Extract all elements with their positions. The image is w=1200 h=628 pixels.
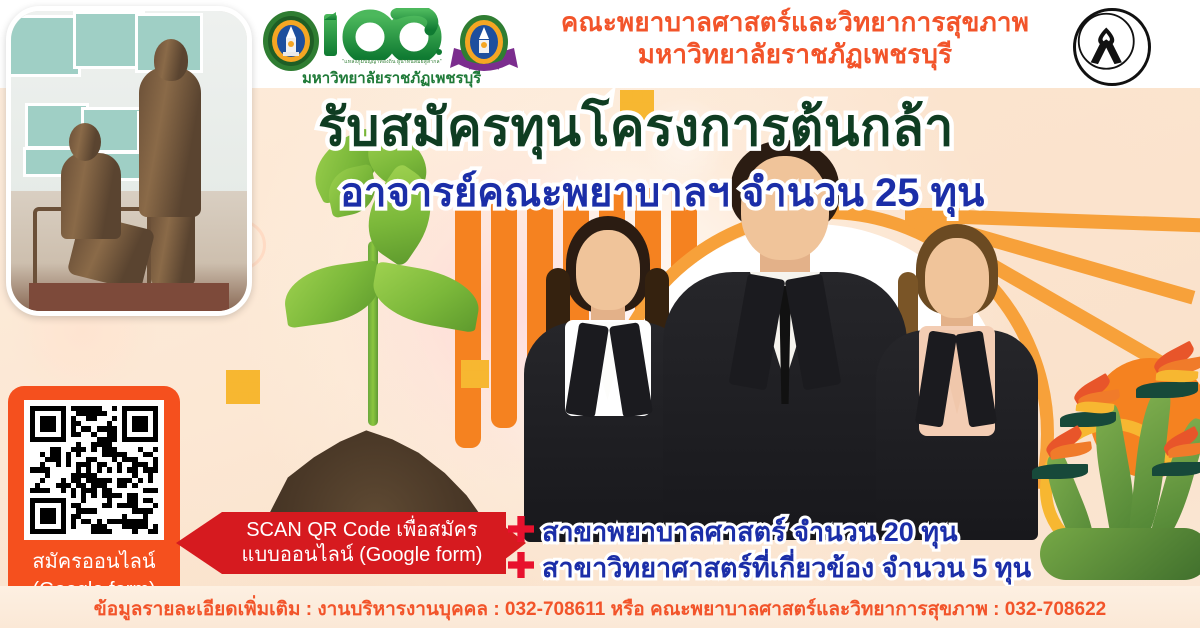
banner-line-1: SCAN QR Code เพื่อสมัคร <box>226 518 498 543</box>
page-title: รับสมัครทุนโครงการต้นกล้า <box>318 98 1118 158</box>
flower-base <box>1032 464 1088 479</box>
person-right <box>872 220 1042 540</box>
red-cross-icon <box>508 516 534 542</box>
banner-line-2: แบบออนไลน์ (Google form) <box>226 543 498 568</box>
list-item: สาขาวิทยาศาสตร์ที่เกี่ยวข้อง จำนวน 5 ทุน <box>508 548 1198 582</box>
banner-text: SCAN QR Code เพื่อสมัคร แบบออนไลน์ (Goog… <box>226 518 498 568</box>
scholarship-list: สาขาพยาบาลศาสตร์ จำนวน 20 ทุน สาขาวิทยาศ… <box>508 512 1198 584</box>
mourning-ribbon-badge <box>1073 8 1151 86</box>
scan-qr-banner: SCAN QR Code เพื่อสมัคร แบบออนไลน์ (Goog… <box>176 512 506 574</box>
university-motto: "แหล่งภูมิปัญญาท้องถิ่น ผู้นำทันสมัยสู่ส… <box>318 58 466 66</box>
statue-figure-standing-legs <box>151 207 195 285</box>
page-subtitle: อาจารย์คณะพยาบาลฯ จำนวน 25 ทุน <box>340 168 1120 218</box>
faculty-title: คณะพยาบาลศาสตร์และวิทยาการสุขภาพ มหาวิทย… <box>505 6 1085 70</box>
flower-base <box>1060 412 1116 427</box>
statue-figure-seated-head <box>69 123 101 161</box>
face <box>925 238 989 318</box>
statue-figure-seated-body <box>61 153 121 239</box>
statue-pedestal <box>29 283 229 311</box>
statue-figure-standing-body <box>139 67 201 217</box>
flower-base <box>1136 382 1198 398</box>
flower-base <box>1152 462 1200 476</box>
qr-code-modules <box>30 406 158 534</box>
faculty-title-line-2: มหาวิทยาลัยราชภัฏเพชรบุรี <box>505 38 1085 70</box>
anniversary-logo: "แหล่งภูมิปัญญาท้องถิ่น ผู้นำทันสมัยสู่ส… <box>262 6 460 86</box>
poster-footer: ข้อมูลรายละเอียดเพิ่มเติม : งานบริหารงาน… <box>0 586 1200 628</box>
university-seal-icon <box>262 10 320 72</box>
red-cross-icon <box>508 552 534 578</box>
face <box>576 230 640 310</box>
list-item-label: สาขาวิทยาศาสตร์ที่เกี่ยวข้อง จำนวน 5 ทุน <box>542 546 1031 589</box>
university-name: มหาวิทยาลัยราชภัฏเพชรบุรี <box>302 66 472 90</box>
qr-code-icon[interactable] <box>24 400 164 540</box>
bronze-statue-photo <box>6 6 252 316</box>
poster-root: รับสมัครทุนโครงการต้นกล้า อาจารย์คณะพยาบ… <box>0 0 1200 628</box>
plant-leaf <box>368 261 484 333</box>
footer-contact-text: ข้อมูลรายละเอียดเพิ่มเติม : งานบริหารงาน… <box>0 594 1200 624</box>
anniversary-digits <box>318 8 460 60</box>
faculty-title-line-1: คณะพยาบาลศาสตร์และวิทยาการสุขภาพ <box>505 6 1085 38</box>
anniversary-100-graphic <box>318 8 460 60</box>
qr-caption-line-1: สมัครออนไลน์ <box>8 548 180 576</box>
statue-figure-standing-head <box>154 39 188 81</box>
list-item: สาขาพยาบาลศาสตร์ จำนวน 20 ทุน <box>508 512 1198 546</box>
black-ribbon-icon <box>1076 11 1142 77</box>
window <box>6 15 81 77</box>
